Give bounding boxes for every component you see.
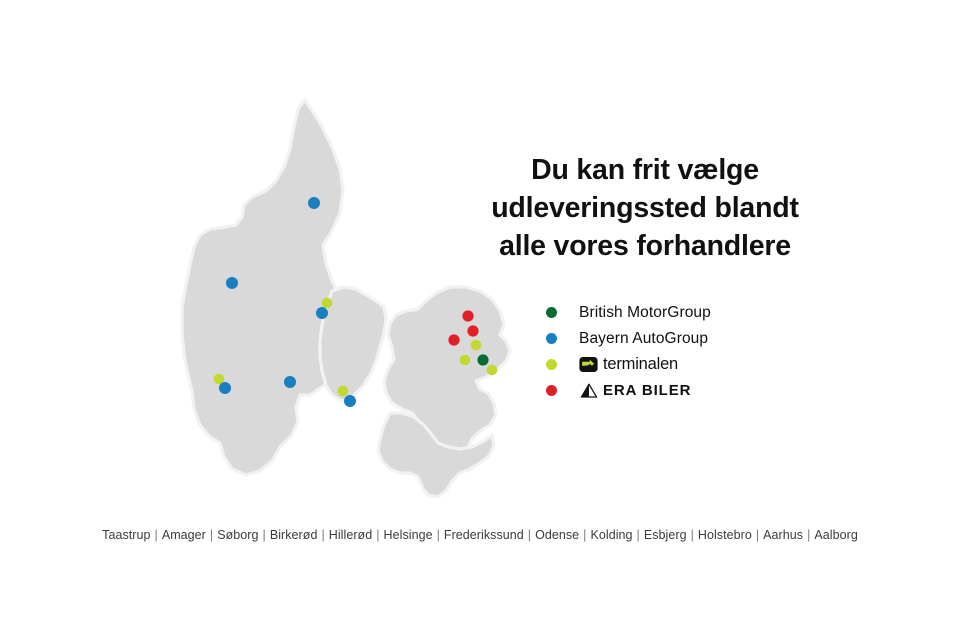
city-name: Aarhus <box>763 528 803 542</box>
city-separator: | <box>206 528 217 542</box>
birkerod-marker[interactable] <box>471 340 482 351</box>
headline: Du kan frit vælge udleveringssted blandt… <box>460 152 830 266</box>
city-name: Hillerød <box>329 528 372 542</box>
city-separator: | <box>752 528 763 542</box>
legend-item-terminalen[interactable]: terminalen <box>546 352 826 377</box>
legend: British MotorGroup Bayern AutoGroup term… <box>546 300 826 404</box>
soborg-marker[interactable] <box>477 354 488 365</box>
aarhus-term-marker[interactable] <box>322 298 333 309</box>
legend-label-british-motorgroup: British MotorGroup <box>579 304 711 322</box>
era-biler-brand: ERA BILER <box>579 382 691 399</box>
legend-item-era-biler[interactable]: ERA BILER <box>546 378 826 403</box>
legend-dot-yellow-green <box>546 359 557 370</box>
city-separator: | <box>433 528 444 542</box>
city-separator: | <box>633 528 644 542</box>
helsinge-marker[interactable] <box>462 310 473 321</box>
city-separator: | <box>803 528 814 542</box>
headline-line-1: Du kan frit vælge <box>460 152 830 190</box>
city-name: Helsinge <box>384 528 433 542</box>
city-separator: | <box>579 528 590 542</box>
city-name: Frederikssund <box>444 528 524 542</box>
holstebro-marker[interactable] <box>226 277 238 289</box>
poster-canvas: Du kan frit vælge udleveringssted blandt… <box>0 0 960 640</box>
aalborg-marker[interactable] <box>308 197 320 209</box>
era-biler-triangle-icon <box>579 383 598 399</box>
terminalen-brand: terminalen <box>579 355 678 374</box>
headline-line-3: alle vores forhandlere <box>460 228 830 266</box>
legend-dot-red <box>546 385 557 396</box>
taastrup-marker[interactable] <box>460 355 471 366</box>
city-name: Odense <box>535 528 579 542</box>
amager-marker[interactable] <box>487 365 498 376</box>
city-separator: | <box>259 528 270 542</box>
city-separator: | <box>687 528 698 542</box>
era-biler-wordmark: ERA BILER <box>603 382 691 399</box>
terminalen-logo-icon <box>579 355 598 374</box>
city-list: Taastrup|Amager|Søborg|Birkerød|Hillerød… <box>0 528 960 542</box>
city-separator: | <box>317 528 328 542</box>
kolding-marker[interactable] <box>284 376 296 388</box>
legend-dot-dark-green <box>546 307 557 318</box>
hillerod-marker[interactable] <box>467 325 478 336</box>
headline-line-2: udleveringssted blandt <box>460 190 830 228</box>
city-name: Amager <box>162 528 206 542</box>
city-name: Søborg <box>217 528 258 542</box>
odense-term-marker[interactable] <box>338 386 349 397</box>
aarhus-marker[interactable] <box>316 307 328 319</box>
legend-dot-blue <box>546 333 557 344</box>
esbjerg-marker[interactable] <box>219 382 231 394</box>
city-name: Aalborg <box>814 528 857 542</box>
city-separator: | <box>524 528 535 542</box>
terminalen-wordmark: terminalen <box>603 355 678 374</box>
city-name: Holstebro <box>698 528 752 542</box>
legend-label-bayern-autogroup: Bayern AutoGroup <box>579 330 708 348</box>
city-name: Esbjerg <box>644 528 687 542</box>
city-name: Birkerød <box>270 528 318 542</box>
frederikssund-marker[interactable] <box>448 334 459 345</box>
city-name: Kolding <box>590 528 632 542</box>
city-separator: | <box>151 528 162 542</box>
city-name: Taastrup <box>102 528 150 542</box>
legend-item-british-motorgroup[interactable]: British MotorGroup <box>546 300 826 325</box>
odense-marker[interactable] <box>344 395 356 407</box>
city-separator: | <box>372 528 383 542</box>
legend-item-bayern-autogroup[interactable]: Bayern AutoGroup <box>546 326 826 351</box>
